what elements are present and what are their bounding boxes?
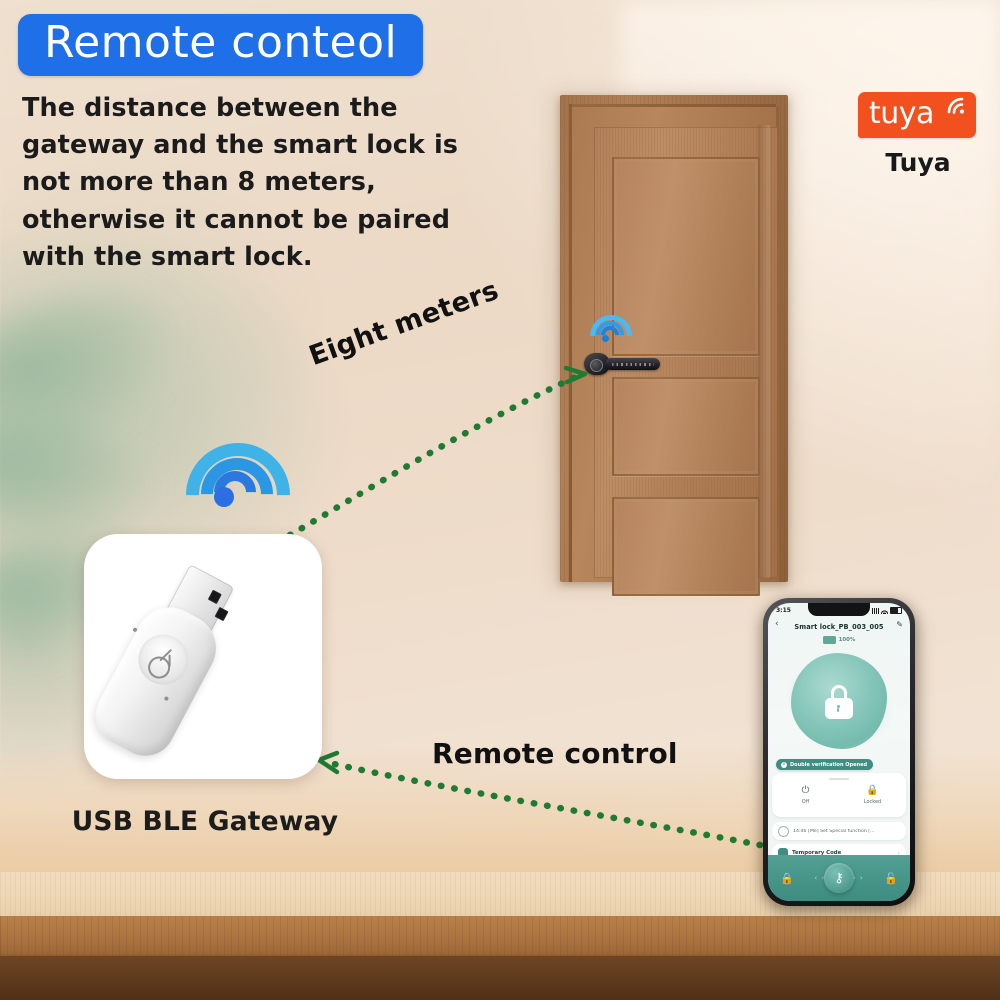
back-button[interactable]: ‹: [775, 620, 779, 629]
lock-closed-icon[interactable]: 🔒: [780, 872, 794, 885]
app-header: Smart lock_PB_003_005: [768, 619, 910, 635]
wifi-icon: [881, 608, 888, 614]
smart-lock-handle-icon: [584, 353, 660, 375]
lock-fingerprint-ring: [590, 359, 603, 372]
control-lock[interactable]: 🔒 Locked: [839, 786, 906, 805]
tuya-brand: tuya Tuya: [858, 92, 978, 177]
power-icon: ⏻: [772, 786, 839, 796]
controls-card: ⏻ Off 🔒 Locked: [772, 773, 906, 817]
lock-icon: 🔒: [839, 786, 906, 796]
gateway-label: USB BLE Gateway: [40, 806, 370, 837]
table-edge: [0, 916, 1000, 956]
controls-row: ⏻ Off 🔒 Locked: [772, 786, 906, 805]
key-icon[interactable]: ⚷: [824, 863, 854, 893]
battery-icon: [890, 607, 902, 614]
wifi-icon: [186, 443, 264, 503]
edit-button[interactable]: ✎: [896, 621, 903, 629]
control-power[interactable]: ⏻ Off: [772, 786, 839, 805]
battery-level: 100%: [839, 637, 856, 643]
wifi-arc-icon: [945, 95, 971, 117]
sheet-grabber[interactable]: [829, 778, 849, 780]
info-icon: i: [781, 762, 787, 768]
tuya-logo: tuya: [858, 92, 976, 138]
door-panel: [612, 497, 760, 596]
lock-keypad-dots: [612, 363, 654, 366]
lock-open-icon[interactable]: 🔓: [884, 872, 898, 885]
device-battery-status: 100%: [768, 636, 910, 644]
signal-bars-icon: [872, 608, 879, 614]
status-indicators: [872, 607, 902, 614]
smartphone: 3:15 ‹ Smart lock_PB_003_005 ✎ 100%: [763, 598, 915, 906]
wifi-dot: [602, 335, 609, 342]
usb-hole: [208, 590, 222, 604]
status-time: 3:15: [776, 607, 791, 614]
padlock-body: [825, 698, 853, 719]
tuya-logo-text: tuya: [869, 96, 934, 131]
page-title: Smart lock_PB_003_005: [794, 623, 883, 631]
logo-stroke: [169, 655, 171, 667]
control-label: Off: [772, 799, 839, 805]
tuya-caption: Tuya: [858, 148, 978, 177]
description-text: The distance between the gateway and the…: [22, 90, 492, 276]
status-badge: i Double verification Opened: [776, 759, 873, 770]
bell-icon: [778, 826, 789, 837]
wifi-dot: [214, 487, 234, 507]
phone-screen: 3:15 ‹ Smart lock_PB_003_005 ✎ 100%: [768, 603, 910, 901]
log-entry-text: 14:46 [Me] Set Special function [...: [793, 829, 875, 834]
status-bar: 3:15: [768, 604, 910, 617]
control-label: Locked: [839, 799, 906, 805]
lock-status-hero[interactable]: [768, 647, 910, 759]
table-front: [0, 956, 1000, 1000]
usb-dongle-icon: [84, 551, 255, 771]
nav-right-dots: › ›: [853, 874, 864, 882]
wifi-icon: [590, 315, 622, 341]
padlock-keyhole-slot: [837, 708, 838, 712]
remote-control-label: Remote control: [432, 737, 678, 770]
page-title-badge: Remote conteol: [18, 14, 423, 76]
door-panel: [612, 157, 760, 356]
usb-hole: [215, 607, 229, 621]
status-badge-text: Double verification Opened: [790, 762, 867, 768]
padlock-icon: [824, 685, 854, 719]
door-jamb: [758, 125, 770, 578]
bottom-nav-bar: 🔒 ‹ ‹ ‹ › › 🔓 ⚷: [768, 855, 910, 901]
usb-gateway-card: [84, 534, 322, 779]
log-entry-row[interactable]: 14:46 [Me] Set Special function [...: [772, 822, 906, 840]
infographic-canvas: tuya Tuya Eight meters Remote control: [0, 0, 1000, 1000]
door-panel: [612, 377, 760, 476]
battery-icon: [823, 636, 836, 644]
